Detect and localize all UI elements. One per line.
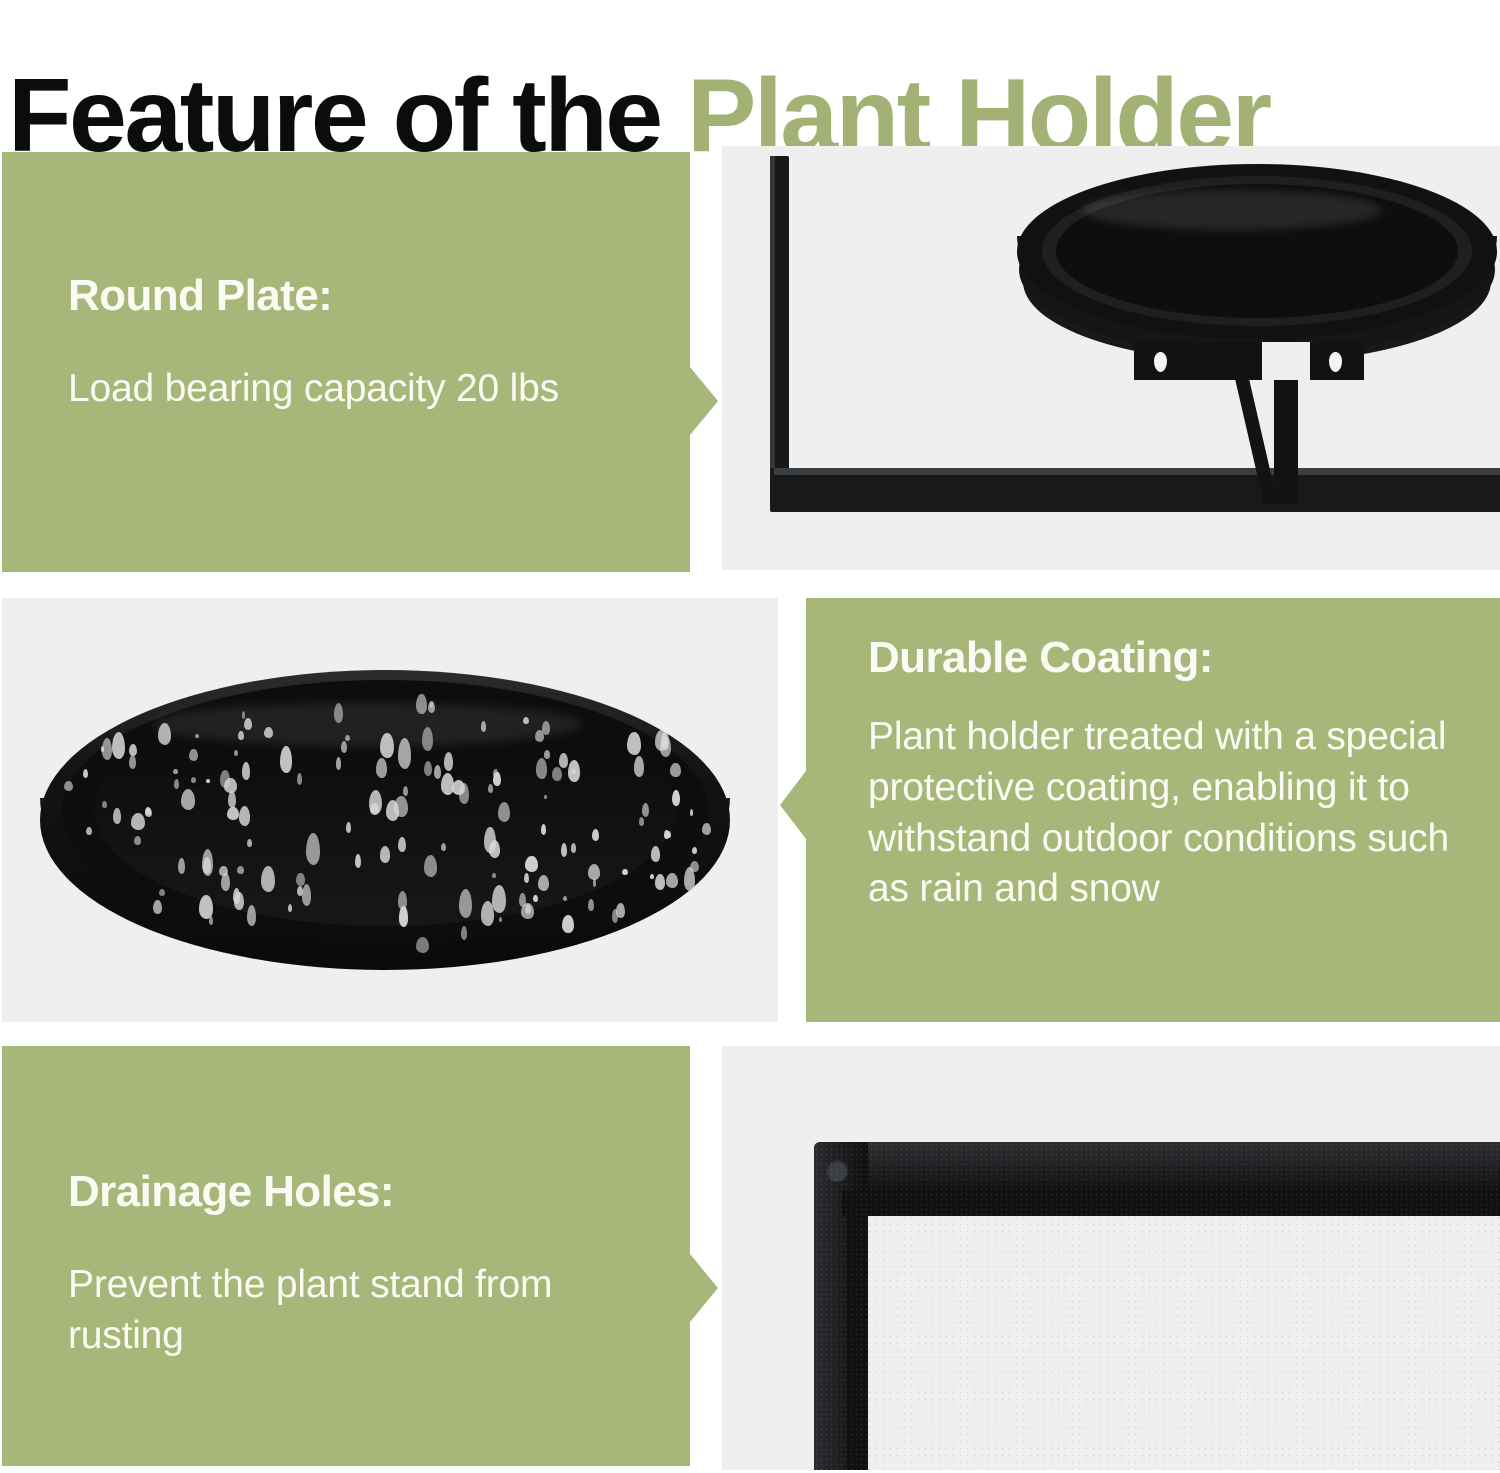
water-droplet (424, 855, 438, 878)
pointer-arrow-left-icon (780, 771, 806, 839)
water-droplet (237, 866, 244, 874)
water-droplet (592, 829, 599, 840)
water-droplet (672, 790, 680, 806)
water-droplet (206, 779, 209, 783)
water-droplet (398, 837, 406, 852)
water-droplet (336, 757, 341, 770)
water-droplet (181, 789, 195, 810)
water-droplet (536, 758, 548, 779)
water-droplet (191, 777, 196, 783)
water-droplet (398, 738, 411, 769)
feature-card-round-plate: Round Plate: Load bearing capacity 20 lb… (2, 152, 690, 572)
water-droplet (234, 892, 244, 911)
water-droplet (174, 779, 179, 790)
water-droplet (499, 917, 502, 922)
water-droplet (461, 926, 467, 940)
water-droplet (189, 749, 198, 762)
water-droplet (492, 873, 495, 878)
water-droplet (296, 873, 304, 887)
feature-card-drainage-holes-content: Drainage Holes: Prevent the plant stand … (68, 1168, 650, 1362)
feature-body-round-plate: Load bearing capacity 20 lbs (68, 364, 650, 415)
water-droplet (202, 849, 213, 876)
water-droplet (264, 727, 273, 738)
water-droplet (538, 875, 549, 891)
pointer-arrow-right-icon (690, 1254, 718, 1322)
water-droplet (355, 854, 361, 869)
water-droplet (430, 702, 434, 708)
water-droplet (535, 730, 544, 742)
feature-body-durable-coating: Plant holder treated with a special prot… (868, 712, 1456, 915)
water-droplet (525, 856, 538, 872)
pointer-arrow-right-icon (690, 367, 718, 435)
water-droplet (376, 758, 387, 778)
water-droplet (134, 836, 141, 845)
water-droplet (655, 874, 665, 890)
water-droplet (541, 824, 546, 835)
water-droplet (692, 847, 697, 854)
frame-horizontal-bar (814, 1142, 1500, 1196)
water-droplet (422, 727, 433, 751)
water-droplet (670, 763, 680, 777)
water-droplet (666, 873, 679, 889)
water-droplet (159, 889, 165, 896)
water-droplet (498, 802, 510, 822)
water-droplet (280, 746, 292, 774)
water-droplet (261, 866, 275, 892)
feature-card-drainage-holes: Drainage Holes: Prevent the plant stand … (2, 1046, 690, 1466)
water-droplet (459, 889, 472, 918)
tray-gloss-highlight (1082, 190, 1382, 230)
feature-heading-drainage-holes: Drainage Holes: (68, 1168, 650, 1216)
bracket-notch (1262, 342, 1310, 380)
frame-vertical-highlight (770, 156, 775, 476)
water-droplet (481, 721, 486, 732)
water-droplet (634, 756, 644, 777)
feature-body-drainage-holes: Prevent the plant stand from rusting (68, 1260, 650, 1361)
water-droplet (524, 873, 529, 884)
water-droplet (221, 873, 230, 891)
water-droplet (227, 807, 239, 820)
water-droplet (386, 800, 399, 821)
water-droplet (416, 937, 429, 953)
water-droplet (666, 831, 672, 839)
photo-wet-black-tray (2, 598, 778, 1022)
tray-gloss-highlight (152, 702, 582, 746)
water-droplet (113, 808, 121, 824)
water-droplet (488, 784, 493, 793)
water-droplet (302, 884, 312, 907)
water-droplet (145, 807, 150, 815)
water-droplet (242, 762, 250, 779)
water-droplet (403, 786, 408, 796)
water-droplet (178, 858, 185, 874)
water-droplet (559, 753, 568, 768)
water-droplet (239, 806, 250, 826)
water-droplet (568, 760, 580, 782)
water-droplet (523, 717, 529, 724)
feature-heading-durable-coating: Durable Coating: (868, 634, 1456, 682)
water-droplet (334, 703, 343, 723)
frame-vertical-inner-edge (846, 1196, 868, 1470)
water-droplet (247, 905, 256, 926)
water-droplet (627, 732, 641, 755)
water-droplet (484, 827, 495, 853)
frame-horizontal-inner-edge (842, 1190, 1500, 1216)
water-droplet (129, 744, 137, 756)
infographic-page: Feature of the Plant Holder Round Plate:… (0, 0, 1500, 1473)
water-droplet (544, 750, 550, 758)
water-droplet (622, 869, 627, 876)
water-droplet (64, 781, 73, 791)
water-droplet (416, 694, 426, 715)
water-droplet (158, 723, 171, 745)
water-droplet (199, 895, 213, 918)
water-droplet (370, 803, 379, 816)
water-droplet (380, 846, 391, 863)
water-droplet (131, 813, 145, 831)
water-droplet (588, 864, 600, 880)
water-droplet (588, 899, 594, 912)
feature-card-durable-coating-content: Durable Coating: Plant holder treated wi… (868, 634, 1456, 915)
water-droplet (492, 885, 506, 913)
water-droplet (173, 769, 177, 775)
water-droplet (684, 867, 695, 891)
water-droplet (288, 904, 292, 912)
water-droplet (660, 736, 671, 758)
water-droplet (552, 767, 562, 781)
water-droplet (238, 731, 243, 740)
water-droplet (195, 734, 199, 739)
water-droplet (562, 915, 574, 934)
water-droplet (434, 765, 441, 779)
water-droplet (129, 755, 136, 769)
water-droplet (525, 904, 532, 915)
water-droplet (651, 846, 661, 862)
water-droplet (102, 801, 106, 809)
water-droplet (616, 903, 625, 918)
water-droplet (247, 839, 252, 847)
corner-screw-hole (826, 1158, 848, 1182)
water-droplet (102, 738, 112, 760)
water-droplet (563, 896, 568, 902)
water-droplet (561, 843, 567, 857)
water-droplet (702, 823, 711, 835)
water-droplet (642, 803, 649, 817)
water-droplet (639, 817, 644, 826)
feature-card-durable-coating: Durable Coating: Plant holder treated wi… (806, 598, 1500, 1022)
water-droplet (380, 733, 394, 758)
photo-round-tray-on-bracket (722, 146, 1500, 570)
water-droplet (571, 843, 577, 853)
water-droplet (345, 735, 350, 741)
feature-heading-round-plate: Round Plate: (68, 272, 650, 320)
water-droplet (234, 750, 238, 756)
frame-horizontal-highlight (774, 468, 1500, 475)
feature-card-round-plate-content: Round Plate: Load bearing capacity 20 lb… (68, 272, 650, 415)
photo-frame-corner (722, 1046, 1500, 1470)
water-droplet (493, 772, 500, 786)
water-droplet (650, 874, 654, 879)
water-droplet (424, 761, 432, 776)
water-droplet (83, 769, 88, 778)
water-droplet (153, 900, 162, 915)
water-droplet (86, 827, 92, 836)
